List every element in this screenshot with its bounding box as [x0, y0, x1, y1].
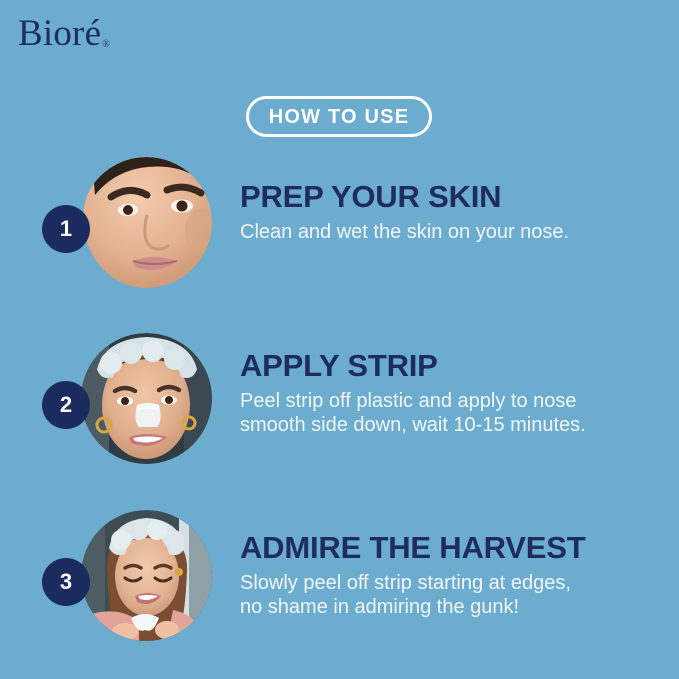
step-3-body-line-2: no shame in admiring the gunk!: [240, 595, 660, 619]
biore-logo: Bioré ®: [18, 14, 110, 54]
step-2-text-block: APPLY STRIP Peel strip off plastic and a…: [240, 349, 660, 437]
registered-trademark-icon: ®: [102, 40, 110, 50]
step-1-body: Clean and wet the skin on your nose.: [240, 213, 660, 244]
step-3-body: Slowly peel off strip starting at edges,…: [240, 564, 660, 619]
step-1-number-badge: 1: [42, 205, 90, 253]
brand-name: Bioré: [18, 14, 101, 54]
step-2-number: 2: [60, 394, 72, 416]
step-3-number: 3: [60, 571, 72, 593]
step-1-heading: PREP YOUR SKIN: [240, 180, 660, 213]
step-3-heading: ADMIRE THE HARVEST: [240, 531, 660, 564]
step-3-text-block: ADMIRE THE HARVEST Slowly peel off strip…: [240, 531, 660, 619]
step-2-body: Peel strip off plastic and apply to nose…: [240, 382, 660, 437]
step-3-photo: [81, 510, 212, 641]
step-3-number-badge: 3: [42, 558, 90, 606]
how-to-use-infographic: Bioré ® HOW TO USE: [0, 0, 679, 679]
step-1-photo: [81, 157, 212, 288]
step-2-body-line-1: Peel strip off plastic and apply to nose: [240, 389, 660, 413]
step-2-photo: [81, 333, 212, 464]
step-2-body-line-2: smooth side down, wait 10-15 minutes.: [240, 413, 660, 437]
step-1-text-block: PREP YOUR SKIN Clean and wet the skin on…: [240, 180, 660, 244]
how-to-use-label: HOW TO USE: [269, 107, 410, 127]
step-2-number-badge: 2: [42, 381, 90, 429]
step-1-number: 1: [60, 218, 72, 240]
how-to-use-badge: HOW TO USE: [246, 96, 432, 137]
step-3-body-line-1: Slowly peel off strip starting at edges,: [240, 571, 660, 595]
step-1-body-line-1: Clean and wet the skin on your nose.: [240, 220, 660, 244]
step-2-heading: APPLY STRIP: [240, 349, 660, 382]
